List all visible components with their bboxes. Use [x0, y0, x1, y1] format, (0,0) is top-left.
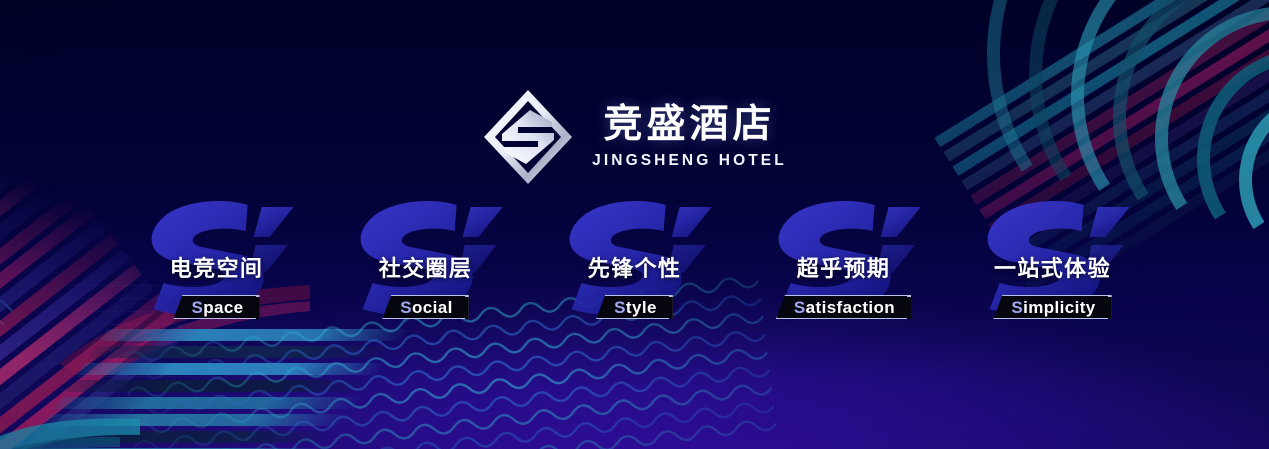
feature-badge-rest: implicity	[1023, 298, 1096, 317]
brand-logo: 竞盛酒店 JINGSHENG HOTEL	[0, 88, 1269, 186]
brand-wordmark: 竞盛酒店 JINGSHENG HOTEL	[592, 104, 787, 170]
diamond-s-monogram-icon	[482, 88, 574, 186]
feature-badge[interactable]: Satisfaction	[776, 295, 911, 319]
feature-badge-initial: S	[400, 298, 412, 317]
feature-title: 先锋个性	[588, 251, 682, 283]
feature-title: 超乎预期	[797, 251, 891, 283]
feature-badge-text: Satisfaction	[794, 299, 895, 316]
brand-name-en: JINGSHENG HOTEL	[592, 152, 787, 170]
feature-title: 一站式体验	[994, 251, 1111, 283]
feature-item[interactable]: 电竞空间 Space	[112, 205, 321, 335]
feature-badge-rest: pace	[203, 298, 243, 317]
feature-badge-initial: S	[794, 298, 806, 317]
feature-badge-rest: atisfaction	[806, 298, 895, 317]
feature-item[interactable]: 一站式体验 Simplicity	[948, 205, 1157, 335]
feature-badge-text: Space	[191, 299, 243, 316]
feature-badge-initial: S	[614, 298, 626, 317]
feature-badge-rest: tyle	[626, 298, 657, 317]
feature-badge-initial: S	[191, 298, 203, 317]
feature-item[interactable]: 超乎预期 Satisfaction	[739, 205, 948, 335]
feature-badge-text: Style	[614, 299, 657, 316]
feature-title: 社交圈层	[379, 251, 473, 283]
feature-title: 电竞空间	[170, 251, 264, 283]
feature-badge-text: Simplicity	[1011, 299, 1095, 316]
hero-banner: 竞盛酒店 JINGSHENG HOTEL 电竞空间 Space 社交圈层 Soc…	[0, 0, 1269, 449]
feature-badge-initial: S	[1011, 298, 1023, 317]
feature-badge[interactable]: Style	[596, 295, 673, 319]
feature-badge-rest: ocial	[412, 298, 453, 317]
feature-list: 电竞空间 Space 社交圈层 Social 先锋个性 Style	[0, 205, 1269, 335]
feature-badge[interactable]: Social	[382, 295, 469, 319]
feature-badge[interactable]: Space	[173, 295, 259, 319]
brand-name-cn: 竞盛酒店	[603, 104, 775, 146]
feature-badge[interactable]: Simplicity	[993, 295, 1111, 319]
feature-item[interactable]: 先锋个性 Style	[530, 205, 739, 335]
feature-badge-text: Social	[400, 299, 453, 316]
feature-item[interactable]: 社交圈层 Social	[321, 205, 530, 335]
